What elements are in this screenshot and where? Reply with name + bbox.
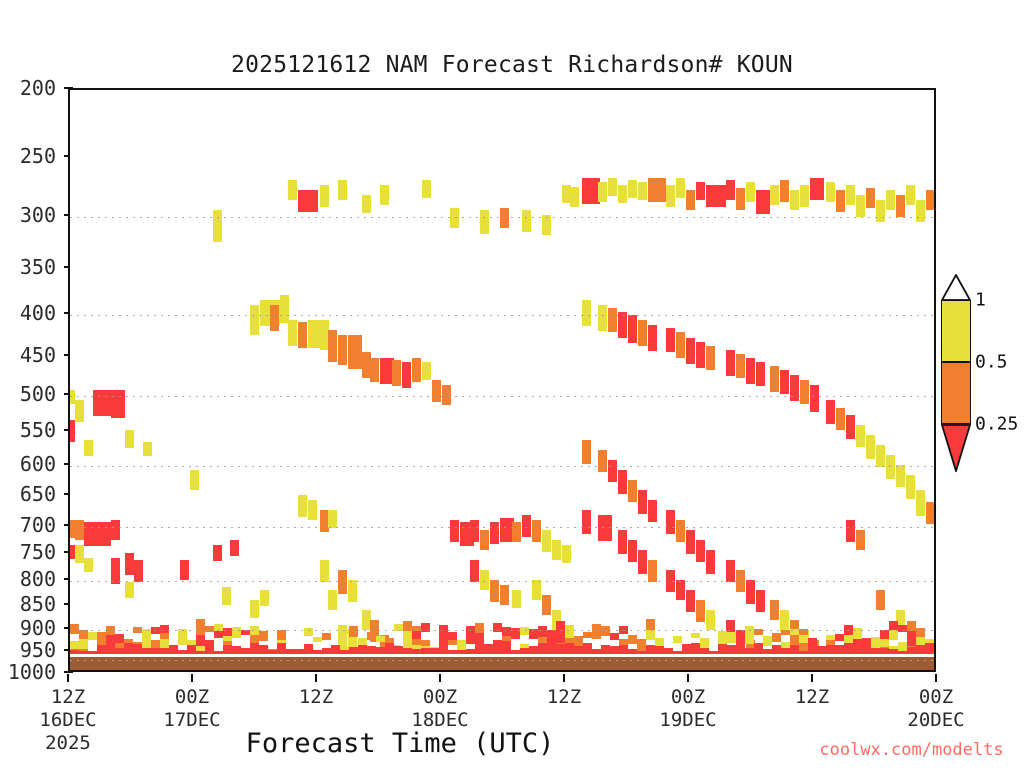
- heatmap-cell: [598, 305, 607, 331]
- heatmap-cell: [512, 670, 521, 672]
- heatmap-cell: [412, 631, 421, 639]
- heatmap-cell: [532, 520, 541, 542]
- heatmap-cell: [638, 320, 647, 346]
- heatmap-cell: [686, 590, 695, 612]
- heatmap-cell: [529, 629, 538, 639]
- heatmap-cell: [547, 630, 556, 639]
- heatmap-cell: [532, 580, 541, 600]
- heatmap-cell: [618, 312, 627, 338]
- heatmap-cell: [907, 621, 916, 631]
- heatmap-cell: [448, 632, 457, 640]
- heatmap-cell: [151, 627, 160, 634]
- heatmap-cell: [466, 626, 475, 633]
- heatmap-cell: [916, 200, 925, 222]
- x-tick-label: 00Z17DEC: [163, 686, 220, 732]
- heatmap-cell: [866, 188, 875, 208]
- heatmap-cell: [686, 338, 695, 364]
- heatmap-cell: [666, 570, 675, 592]
- heatmap-cell: [475, 633, 484, 638]
- heatmap-cell: [934, 644, 936, 652]
- heatmap-cell: [886, 190, 895, 210]
- heatmap-cell: [676, 332, 685, 358]
- heatmap-cell: [666, 510, 675, 534]
- heatmap-cell: [115, 634, 124, 643]
- heatmap-cell: [403, 642, 412, 648]
- page-title: 2025121612 NAM Forecast Richardson# KOUN: [0, 52, 1024, 78]
- heatmap-cell: [480, 570, 489, 590]
- heatmap-cell: [696, 182, 705, 200]
- heatmap-cell: [298, 190, 318, 212]
- heatmap-cell: [93, 390, 111, 416]
- heatmap-cell: [770, 366, 779, 392]
- heatmap-cell: [582, 440, 591, 464]
- heatmap-cell: [646, 619, 655, 630]
- heatmap-cell: [736, 630, 745, 650]
- heatmap-cell: [79, 639, 88, 649]
- heatmap-cell: [800, 380, 809, 404]
- heatmap-cell: [502, 627, 511, 636]
- heatmap-cell: [522, 210, 531, 232]
- heatmap-cell: [178, 629, 187, 634]
- y-tick-label: 950: [20, 638, 56, 662]
- y-tick-label: 900: [20, 616, 56, 640]
- heatmap-cell: [889, 630, 898, 640]
- y-tick-label: 400: [20, 301, 56, 325]
- heatmap-cell: [232, 627, 241, 638]
- heatmap-cell: [745, 626, 754, 635]
- heatmap-cell: [706, 185, 726, 207]
- x-tick-time: 12Z: [547, 686, 581, 709]
- heatmap-cell: [370, 358, 379, 382]
- heatmap-cell: [598, 182, 607, 202]
- heatmap-cell: [111, 558, 120, 584]
- heatmap-cell: [770, 185, 779, 205]
- heatmap-cell: [835, 634, 844, 641]
- heatmap-cell: [542, 215, 551, 235]
- heatmap-cell: [84, 522, 93, 546]
- heatmap-cell: [556, 631, 565, 638]
- heatmap-cell: [552, 540, 561, 560]
- x-tick-mark: [687, 674, 689, 682]
- x-tick-mark: [439, 674, 441, 682]
- y-tick-label: 350: [20, 255, 56, 279]
- heatmap-cell: [512, 522, 521, 542]
- heatmap-cell: [222, 587, 231, 605]
- y-tick-label: 250: [20, 144, 56, 168]
- heatmap-cell: [846, 415, 855, 439]
- heatmap-cell: [470, 560, 479, 582]
- heatmap-cell: [916, 628, 925, 637]
- heatmap-cell: [676, 178, 685, 198]
- heatmap-cell: [277, 630, 286, 640]
- heatmap-cell: [259, 631, 268, 641]
- heatmap-cell: [876, 200, 885, 222]
- heatmap-cell: [706, 550, 715, 574]
- heatmap-cell: [799, 635, 808, 643]
- heatmap-cell: [304, 628, 313, 636]
- heatmap-cell: [313, 637, 322, 642]
- heatmap-cell: [686, 190, 695, 210]
- x-tick-label: 12Z: [795, 686, 829, 709]
- heatmap-cell: [97, 632, 106, 638]
- heatmap-cell: [196, 630, 205, 635]
- heatmap-cell: [856, 195, 865, 217]
- y-axis-labels: 2002503003504004505005506006507007508008…: [0, 88, 64, 672]
- heatmap-cell: [906, 185, 915, 205]
- heatmap-cell: [402, 362, 411, 388]
- heatmap-cell: [592, 624, 601, 631]
- heatmap-cell: [706, 610, 715, 630]
- x-tick-time: 00Z: [163, 686, 220, 709]
- heatmap-cell: [214, 631, 223, 638]
- heatmap-cell: [926, 190, 935, 210]
- heatmap-cell: [556, 621, 565, 631]
- heatmap-cell: [866, 435, 875, 459]
- heatmap-cell: [75, 520, 84, 540]
- heatmap-cell: [93, 522, 111, 546]
- heatmap-cell: [213, 545, 222, 561]
- heatmap-cell: [570, 187, 579, 207]
- heatmap-cell: [380, 185, 389, 205]
- heatmap-cell: [196, 635, 205, 646]
- heatmap-cell: [799, 643, 808, 648]
- heatmap-cell: [241, 630, 250, 635]
- watermark: coolwx.com/modelts: [804, 740, 1019, 760]
- heatmap-cell: [648, 500, 657, 522]
- x-tick-label: 12Z: [547, 686, 581, 709]
- y-tick-label: 300: [20, 203, 56, 227]
- heatmap-cell: [75, 400, 84, 422]
- heatmap-cell: [84, 440, 93, 456]
- colorbar-label-05: 0.5: [975, 352, 1008, 373]
- heatmap-cell: [638, 550, 647, 574]
- x-tick-label: 12Z: [299, 686, 333, 709]
- heatmap-cell: [846, 520, 855, 542]
- heatmap-cell: [638, 182, 647, 200]
- heatmap-cell: [180, 560, 189, 580]
- heatmap-cell: [142, 639, 151, 646]
- x-tick-time: 12Z: [299, 686, 333, 709]
- heatmap-cell: [421, 623, 430, 632]
- heatmap-cell: [906, 475, 915, 499]
- heatmap-cell: [618, 470, 627, 494]
- heatmap-cell: [70, 624, 79, 634]
- heatmap-cell: [376, 636, 385, 642]
- heatmap-cell: [637, 639, 646, 650]
- heatmap-cell: [601, 626, 610, 636]
- heatmap-cell: [896, 465, 905, 487]
- heatmap-cell: [280, 295, 289, 323]
- heatmap-cell: [450, 208, 459, 228]
- heatmap-cell: [574, 636, 583, 641]
- heatmap-cell: [876, 445, 885, 467]
- x-tick-date: 20DEC: [907, 709, 964, 732]
- heatmap-cell: [746, 580, 755, 604]
- heatmap-cell: [871, 637, 880, 648]
- heatmap-cell: [205, 626, 214, 632]
- heatmap-cell: [718, 631, 727, 639]
- heatmap-cell: [412, 626, 421, 631]
- heatmap-cell: [582, 300, 591, 326]
- heatmap-cell: [493, 623, 502, 632]
- heatmap-cells: [70, 90, 934, 670]
- heatmap-cell: [362, 195, 371, 213]
- x-tick-label: 00Z18DEC: [411, 686, 468, 732]
- heatmap-cell: [432, 380, 441, 402]
- heatmap-cell: [736, 188, 745, 210]
- y-tick-label: 650: [20, 482, 56, 506]
- heatmap-cell: [288, 320, 297, 346]
- heatmap-cell: [648, 560, 657, 582]
- heatmap-cell: [666, 328, 675, 352]
- heatmap-cell: [143, 442, 152, 456]
- terrain-fill: [70, 657, 934, 672]
- heatmap-cell: [340, 629, 349, 634]
- heatmap-cell: [562, 545, 571, 563]
- heatmap-cell: [111, 390, 125, 418]
- heatmap-cell: [106, 626, 115, 635]
- heatmap-cell: [490, 580, 499, 602]
- x-tick-time: 00Z: [659, 686, 716, 709]
- heatmap-cell: [270, 305, 279, 331]
- heatmap-cell: [826, 182, 835, 202]
- heatmap-cell: [691, 633, 700, 638]
- y-tick-label: 500: [20, 382, 56, 406]
- heatmap-cell: [88, 632, 97, 640]
- heatmap-cell: [648, 325, 657, 351]
- y-tick-label: 600: [20, 452, 56, 476]
- heatmap-cell: [565, 630, 574, 638]
- heatmap-cell: [392, 670, 401, 672]
- heatmap-cell: [726, 560, 735, 582]
- heatmap-cell: [412, 358, 421, 382]
- heatmap-cell: [628, 180, 637, 198]
- heatmap-cell: [826, 400, 835, 424]
- heatmap-cell: [322, 633, 331, 640]
- heatmap-cell: [125, 582, 134, 598]
- heatmap-cell: [810, 390, 819, 412]
- heatmap-cell: [349, 626, 358, 637]
- heatmap-cell: [628, 315, 637, 343]
- heatmap-cell: [250, 600, 259, 618]
- heatmap-cell: [876, 590, 885, 610]
- heatmap-cell: [836, 190, 845, 212]
- heatmap-cell: [770, 600, 779, 620]
- heatmap-cell: [727, 632, 736, 643]
- heatmap-cell: [648, 178, 666, 202]
- heatmap-cell: [125, 553, 134, 575]
- heatmap-cell: [608, 308, 617, 332]
- heatmap-cell: [70, 641, 79, 649]
- heatmap-cell: [338, 570, 347, 594]
- heatmap-cell: [628, 480, 637, 502]
- heatmap-cell: [250, 305, 259, 335]
- heatmap-cell: [448, 640, 457, 645]
- heatmap-cell: [907, 631, 916, 638]
- heatmap-cell: [619, 626, 628, 634]
- heatmap-cell: [628, 540, 637, 562]
- heatmap-cell: [213, 210, 222, 242]
- heatmap-cell: [522, 515, 531, 537]
- colorbar-segment-high[interactable]: [941, 300, 971, 362]
- x-tick-mark: [935, 674, 937, 682]
- heatmap-cell: [781, 630, 790, 635]
- y-tick-label: 850: [20, 592, 56, 616]
- heatmap-cell: [500, 585, 509, 605]
- heatmap-cell: [746, 358, 755, 384]
- heatmap-cell: [125, 430, 134, 448]
- heatmap-cell: [696, 540, 705, 562]
- heatmap-cell: [799, 629, 808, 635]
- heatmap-cell: [754, 629, 763, 635]
- heatmap-cell: [756, 590, 765, 612]
- heatmap-cell: [746, 182, 755, 202]
- x-tick-mark: [315, 674, 317, 682]
- heatmap-cell: [582, 510, 591, 534]
- heatmap-cell: [223, 636, 232, 641]
- heatmap-cell: [862, 638, 871, 646]
- heatmap-cell: [328, 330, 337, 362]
- terrain-gridline: [70, 660, 934, 661]
- heatmap-cell: [736, 354, 745, 378]
- heatmap-cell: [676, 520, 685, 542]
- heatmap-cell: [638, 490, 647, 514]
- x-tick-time: 00Z: [411, 686, 468, 709]
- heatmap-cell: [726, 350, 735, 376]
- heatmap-cell: [556, 638, 565, 643]
- heatmap-cell: [853, 628, 862, 639]
- heatmap-cell: [470, 520, 479, 542]
- heatmap-cell: [422, 180, 431, 198]
- heatmap-cell: [403, 631, 412, 642]
- heatmap-cell: [810, 178, 824, 200]
- heatmap-cell: [800, 185, 809, 207]
- heatmap-cell: [696, 600, 705, 622]
- heatmap-cell: [111, 520, 120, 540]
- heatmap-cell: [421, 640, 430, 646]
- colorbar-bottom-outline: [941, 424, 971, 472]
- heatmap-cell: [298, 495, 307, 517]
- heatmap-cell: [542, 530, 551, 552]
- heatmap-cell: [439, 625, 448, 634]
- x-tick-label: 00Z19DEC: [659, 686, 716, 732]
- heatmap-cell: [511, 628, 520, 639]
- heatmap-cell: [646, 630, 655, 640]
- heatmap-cell: [898, 625, 907, 632]
- heatmap-cell: [338, 335, 347, 365]
- heatmap-cell: [583, 632, 592, 638]
- heatmap-cell: [686, 530, 695, 554]
- heatmap-cell: [846, 670, 855, 672]
- heatmap-cell: [598, 515, 612, 541]
- heatmap-cell: [320, 560, 329, 582]
- heatmap-cell: [500, 208, 509, 228]
- heatmap-cell: [160, 625, 169, 633]
- y-tick-label: 700: [20, 513, 56, 537]
- heatmap-cell: [907, 638, 916, 646]
- heatmap-cell: [142, 629, 151, 639]
- heatmap-cell: [190, 470, 199, 490]
- heatmap-cell: [846, 185, 855, 205]
- heatmap-cell: [160, 633, 169, 639]
- heatmap-cell: [75, 545, 84, 563]
- heatmap-cell: [608, 178, 617, 196]
- colorbar-label-1: 1: [975, 290, 986, 311]
- heatmap-cell: [780, 180, 789, 202]
- heatmap-cell: [84, 558, 93, 572]
- heatmap-cell: [412, 639, 421, 645]
- heatmap-cell: [628, 635, 637, 644]
- heatmap-cell: [736, 570, 745, 592]
- heatmap-cell: [106, 635, 115, 646]
- heatmap-cell: [610, 633, 619, 640]
- heatmap-cell: [790, 190, 799, 210]
- x-tick-time: 00Z: [907, 686, 964, 709]
- heatmap-cell: [320, 185, 329, 207]
- heatmap-cell: [70, 420, 75, 442]
- heatmap-cell: [676, 580, 685, 600]
- x-tick-mark: [563, 674, 565, 682]
- heatmap-cell: [214, 624, 223, 631]
- heatmap-cell: [673, 636, 682, 643]
- y-tick-label: 1000: [8, 660, 56, 684]
- heatmap-cell: [592, 631, 601, 639]
- heatmap-cell: [696, 342, 705, 368]
- heatmap-cell: [763, 636, 772, 646]
- heatmap-cell: [856, 530, 865, 550]
- heatmap-cell: [880, 630, 889, 639]
- heatmap-cell: [790, 375, 799, 401]
- heatmap-cell: [394, 624, 403, 631]
- heatmap-cell: [772, 633, 781, 642]
- heatmap-cell: [790, 629, 799, 635]
- heatmap-cell: [328, 590, 337, 610]
- heatmap-cell: [916, 490, 925, 516]
- heatmap-cell: [756, 190, 770, 214]
- heatmap-cell: [97, 638, 106, 645]
- heatmap-cell: [856, 425, 865, 447]
- heatmap-cell: [223, 628, 232, 636]
- colorbar-segment-mid[interactable]: [941, 362, 971, 424]
- heatmap-cell: [133, 627, 142, 633]
- heatmap-cell: [826, 635, 835, 640]
- heatmap-cell: [79, 630, 88, 639]
- x-tick-label: 00Z20DEC: [907, 686, 964, 732]
- heatmap-cell: [260, 590, 269, 606]
- heatmap-cell: [512, 590, 521, 608]
- heatmap-cell: [836, 408, 845, 430]
- heatmap-cell: [457, 640, 466, 647]
- heatmap-cell: [288, 180, 297, 200]
- heatmap-cell: [598, 450, 607, 472]
- y-tick-label: 450: [20, 343, 56, 367]
- heatmap-cell: [520, 627, 529, 635]
- colorbar[interactable]: 10.50.25: [941, 300, 971, 472]
- heatmap-cell: [926, 502, 935, 524]
- y-tick-label: 550: [20, 418, 56, 442]
- heatmap-cell: [502, 636, 511, 641]
- heatmap-plot-area[interactable]: [68, 88, 936, 672]
- heatmap-cell: [565, 625, 574, 630]
- heatmap-cell: [756, 362, 765, 386]
- x-axis-title: Forecast Time (UTC): [0, 728, 800, 759]
- heatmap-cell: [348, 580, 357, 602]
- heatmap-cell: [178, 634, 187, 645]
- x-tick-time: 12Z: [795, 686, 829, 709]
- colorbar-top-outline: [941, 274, 971, 301]
- heatmap-cell: [230, 540, 239, 556]
- heatmap-cell: [422, 362, 431, 380]
